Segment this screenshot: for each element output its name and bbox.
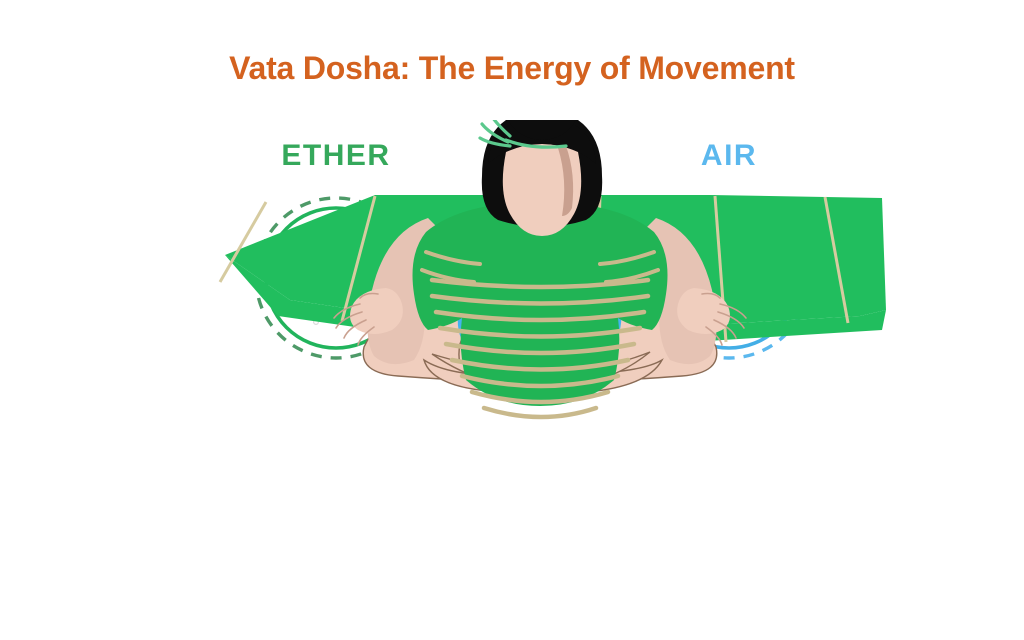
figure-head (480, 120, 602, 236)
page-title: Vata Dosha: The Energy of Movement (0, 50, 1024, 87)
illustration-canvas: Vata Dosha: The Energy of Movement ETHER (0, 0, 1024, 640)
yogi-figure-group (170, 120, 910, 580)
